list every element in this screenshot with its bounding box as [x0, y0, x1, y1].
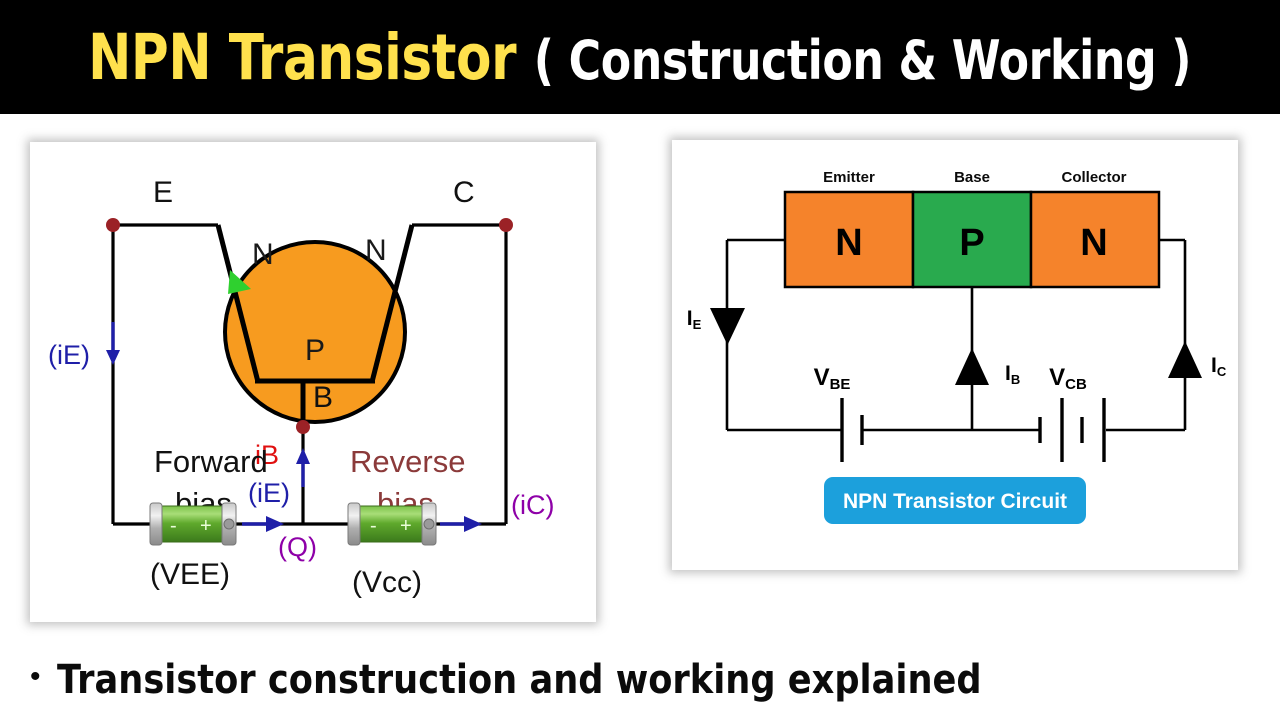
current-ie-indicator: IE [687, 307, 745, 345]
current-emitter-arrow-head-icon [106, 350, 120, 365]
battery-vcc: - + (Vcc) [348, 503, 436, 599]
title-main-text: NPN Transistor [88, 21, 516, 94]
current-ib-indicator: IB [955, 348, 1020, 387]
battery-vee-label: (VEE) [150, 558, 230, 591]
battery-vee-terminal-nub [224, 519, 234, 529]
current-label-ic: IC [1211, 354, 1227, 379]
npn-letter-collector: N [1080, 222, 1107, 264]
current-label-ie: IE [687, 307, 702, 332]
node-dot-collector [499, 218, 513, 232]
npn-biasing-svg: N N P E C B (iE) [30, 142, 596, 622]
node-dot-base [296, 420, 310, 434]
npn-circuit-badge-label: NPN Transistor Circuit [843, 490, 1067, 513]
current-collector-label: (iC) [511, 490, 554, 520]
voltage-label-vbe: VBE [814, 364, 851, 393]
left-diagram-panel: N N P E C B (iE) [30, 142, 596, 622]
npn-letter-emitter: N [835, 222, 862, 264]
battery-vcc-plus-icon: + [400, 515, 412, 537]
battery-vee-body [156, 506, 228, 542]
battery-vee-cap-left [150, 503, 162, 545]
npn-circuit-svg: Emitter Base Collector N P N [672, 140, 1238, 570]
footer-caption-text: Transistor construction and working expl… [57, 657, 982, 703]
terminal-label-base: B [313, 381, 333, 414]
page-title: NPN Transistor ( Construction & Working … [88, 26, 1191, 89]
battery-vee-plus-icon: + [200, 515, 212, 537]
title-sub-text: ( Construction & Working ) [534, 29, 1191, 92]
current-ic-arrow-head-icon [1168, 341, 1202, 378]
reverse-bias-label-line1: Reverse [350, 444, 465, 479]
current-collector-indicator: (iC) [440, 490, 554, 532]
battery-symbol-vbe [842, 398, 862, 462]
npn-circuit-badge[interactable]: NPN Transistor Circuit [824, 477, 1086, 524]
battery-vee: - + (VEE) [150, 503, 236, 591]
battery-vcc-label: (Vcc) [352, 566, 422, 599]
battery-symbol-vcb [1040, 398, 1104, 462]
terminal-label-emitter: E [153, 176, 173, 209]
current-emitter-branch-label: (iE) [248, 478, 290, 508]
region-title-emitter: Emitter [823, 169, 875, 186]
right-diagram-panel: Emitter Base Collector N P N [672, 140, 1238, 570]
current-emitter-indicator: (iE) [48, 322, 120, 370]
slide-root: NPN Transistor ( Construction & Working … [0, 0, 1280, 720]
npn-letter-base: P [959, 222, 984, 264]
current-collector-arrow-head-icon [464, 516, 482, 532]
symbol-region-emitter-letter: N [252, 238, 274, 271]
voltage-label-vcb: VCB [1049, 364, 1087, 393]
battery-vcc-body [356, 506, 428, 542]
title-bar: NPN Transistor ( Construction & Working … [0, 0, 1280, 114]
region-title-base: Base [954, 169, 990, 186]
footer-caption: • Transistor construction and working ex… [30, 650, 1250, 710]
symbol-region-base-letter: P [305, 334, 325, 367]
bullet-icon: • [30, 662, 41, 692]
junction-point-label: (Q) [278, 532, 317, 562]
node-dot-emitter [106, 218, 120, 232]
battery-vcc-minus-icon: - [370, 515, 377, 537]
forward-bias-label-line1: Forward [154, 444, 268, 479]
symbol-region-collector-letter: N [365, 234, 387, 267]
current-emitter-branch-indicator: (iE) [242, 478, 290, 532]
npn-block-stack: N P N [785, 192, 1159, 287]
region-title-collector: Collector [1061, 169, 1126, 186]
current-base-arrow-head-icon [296, 448, 310, 464]
current-ie-arrow-head-icon [710, 308, 745, 345]
current-ic-indicator: IC [1168, 341, 1227, 379]
battery-vcc-cap-left [348, 503, 360, 545]
current-emitter-branch-head-icon [266, 516, 284, 532]
current-ib-arrow-head-icon [955, 348, 989, 385]
current-label-ib: IB [1005, 362, 1020, 387]
current-emitter-label: (iE) [48, 340, 90, 370]
battery-vcc-terminal-nub [424, 519, 434, 529]
terminal-label-collector: C [453, 176, 475, 209]
battery-vee-minus-icon: - [170, 515, 177, 537]
